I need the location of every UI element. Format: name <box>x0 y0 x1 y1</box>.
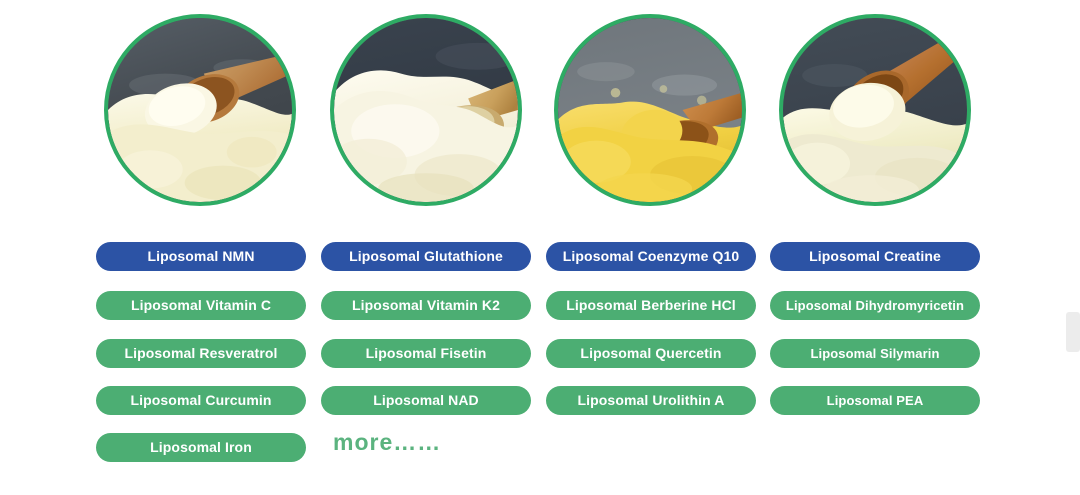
pill-liposomal-creatine[interactable]: Liposomal Creatine <box>770 242 980 271</box>
pill-row-3: Liposomal Resveratrol Liposomal Fisetin … <box>0 339 1080 387</box>
pill-liposomal-nmn[interactable]: Liposomal NMN <box>96 242 306 271</box>
pill-liposomal-resveratrol[interactable]: Liposomal Resveratrol <box>96 339 306 368</box>
powder-photo-1 <box>108 18 292 202</box>
pill-row-2: Liposomal Vitamin C Liposomal Vitamin K2… <box>0 291 1080 339</box>
product-image-liposomal-creatine[interactable] <box>779 14 971 206</box>
pill-liposomal-glutathione[interactable]: Liposomal Glutathione <box>321 242 531 271</box>
powder-photo-3 <box>558 18 742 202</box>
product-image-liposomal-coenzyme-q10[interactable] <box>554 14 746 206</box>
pill-row-4: Liposomal Curcumin Liposomal NAD Liposom… <box>0 386 1080 434</box>
product-pill-grid: Liposomal NMN Liposomal Glutathione Lipo… <box>0 225 1080 495</box>
pill-row-5: Liposomal Iron more…… <box>0 433 1080 481</box>
product-image-liposomal-glutathione[interactable] <box>330 14 522 206</box>
powder-photo-4 <box>783 18 967 202</box>
pill-liposomal-coenzyme-q10[interactable]: Liposomal Coenzyme Q10 <box>546 242 756 271</box>
pill-row-featured: Liposomal NMN Liposomal Glutathione Lipo… <box>0 242 1080 290</box>
more-link[interactable]: more…… <box>333 429 441 456</box>
pill-liposomal-pea[interactable]: Liposomal PEA <box>770 386 980 415</box>
powder-photo-2 <box>334 18 518 202</box>
pill-liposomal-nad[interactable]: Liposomal NAD <box>321 386 531 415</box>
pill-liposomal-silymarin[interactable]: Liposomal Silymarin <box>770 339 980 368</box>
product-image-row <box>0 0 1080 225</box>
page-scrollbar-thumb[interactable] <box>1066 312 1080 352</box>
pill-liposomal-quercetin[interactable]: Liposomal Quercetin <box>546 339 756 368</box>
pill-liposomal-vitamin-c[interactable]: Liposomal Vitamin C <box>96 291 306 320</box>
pill-liposomal-vitamin-k2[interactable]: Liposomal Vitamin K2 <box>321 291 531 320</box>
pill-liposomal-berberine-hcl[interactable]: Liposomal Berberine HCl <box>546 291 756 320</box>
pill-liposomal-fisetin[interactable]: Liposomal Fisetin <box>321 339 531 368</box>
pill-liposomal-curcumin[interactable]: Liposomal Curcumin <box>96 386 306 415</box>
pill-liposomal-iron[interactable]: Liposomal Iron <box>96 433 306 462</box>
product-grid-page: Liposomal NMN Liposomal Glutathione Lipo… <box>0 0 1080 495</box>
pill-liposomal-urolithin-a[interactable]: Liposomal Urolithin A <box>546 386 756 415</box>
product-image-liposomal-nmn[interactable] <box>104 14 296 206</box>
pill-liposomal-dihydromyricetin[interactable]: Liposomal Dihydromyricetin <box>770 291 980 320</box>
